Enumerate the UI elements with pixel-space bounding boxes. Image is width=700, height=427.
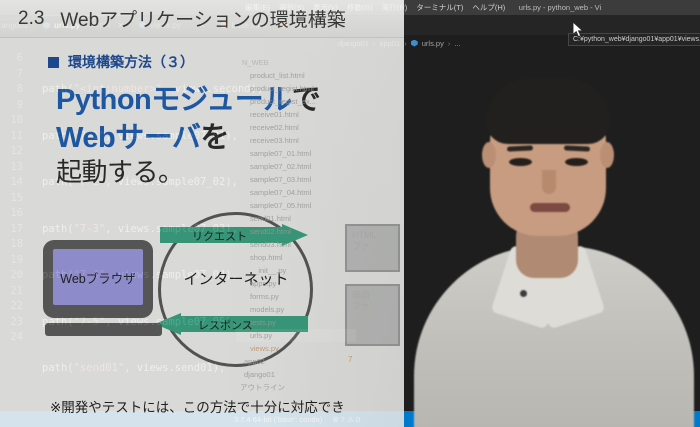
file-path-tooltip: C:¥python_web¥django01¥app01¥views...	[568, 33, 700, 46]
list-item[interactable]: sample07_02.html	[236, 160, 356, 173]
explorer-problem-badge: 7	[348, 355, 352, 364]
browser-label: Webブラウザ	[60, 268, 135, 287]
list-item[interactable]: receive01.html	[236, 108, 356, 121]
menu-item-help[interactable]: ヘルプ(H)	[472, 2, 505, 13]
list-item[interactable]: sample07_04.html	[236, 186, 356, 199]
list-item[interactable]: product_regist_ex...	[236, 95, 356, 108]
breadcrumb-item-urls-py[interactable]: urls.py	[422, 39, 444, 48]
screen-root: 編集(E) 選択(S) 表示(V) 移動(G) 実行(R) ターミナル(T) ヘ…	[0, 0, 700, 427]
mouse-cursor-icon	[573, 22, 585, 38]
folder-item-app02[interactable]: app02	[236, 355, 356, 368]
outline-section-label[interactable]: アウトライン	[236, 381, 356, 394]
ghost-box-line1: HTML	[352, 230, 393, 241]
ghost-box-line2: ファ	[352, 241, 393, 252]
chevron-right-icon: ›	[404, 39, 407, 48]
list-item[interactable]: send01.html	[236, 212, 356, 225]
python-file-icon	[411, 40, 418, 47]
laptop-base	[45, 323, 162, 336]
list-item-urls-py[interactable]: urls.py	[236, 329, 356, 342]
list-item[interactable]: sample07_01.html	[236, 147, 356, 160]
list-item[interactable]: receive02.html	[236, 121, 356, 134]
list-item[interactable]: sample07_03.html	[236, 173, 356, 186]
folder-item-django01[interactable]: django01	[236, 368, 356, 381]
list-item[interactable]: tests.py	[236, 316, 356, 329]
list-item-views-py[interactable]: views.py	[236, 342, 356, 355]
list-item[interactable]: sample07_05.html	[236, 199, 356, 212]
list-item[interactable]: __init__.py	[236, 264, 356, 277]
list-item[interactable]: product_list.html	[236, 69, 356, 82]
list-item[interactable]: forms.py	[236, 290, 356, 303]
explorer-file-list[interactable]: N_WEB product_list.html product_regist.h…	[236, 56, 356, 416]
ghost-box-line1: 画面	[352, 290, 393, 301]
browser-screen: Webブラウザ	[53, 249, 143, 305]
list-item[interactable]: send03.html	[236, 238, 356, 251]
breadcrumb-item-more[interactable]: ...	[454, 39, 460, 48]
list-item[interactable]: models.py	[236, 303, 356, 316]
list-item[interactable]: send02.html	[236, 225, 356, 238]
menu-item-terminal[interactable]: ターミナル(T)	[416, 2, 463, 13]
list-item[interactable]: product_regist.html	[236, 82, 356, 95]
chevron-right-icon: ›	[448, 39, 451, 48]
ghost-box-line2: ファ	[352, 301, 393, 312]
list-item[interactable]: apps.py	[236, 277, 356, 290]
explorer-root-label: N_WEB	[236, 56, 356, 69]
list-item[interactable]: shop.html	[236, 251, 356, 264]
list-item[interactable]: receive03.html	[236, 134, 356, 147]
